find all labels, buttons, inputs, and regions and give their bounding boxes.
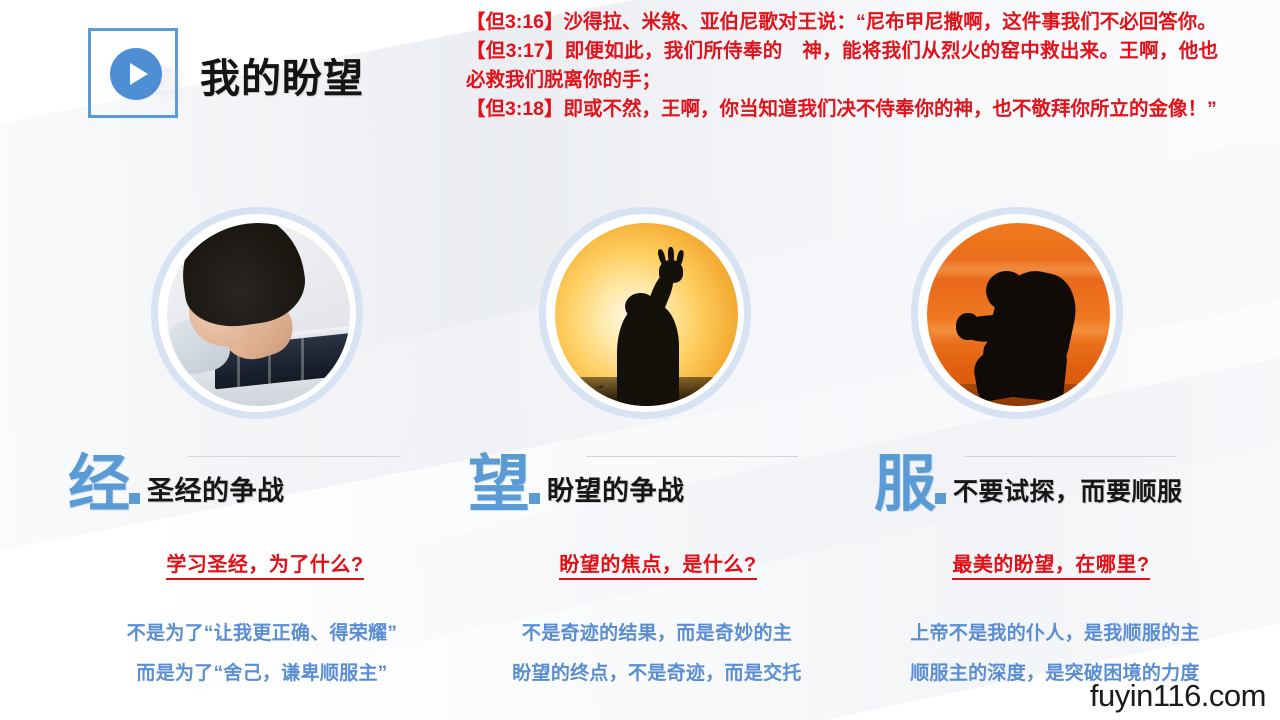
scripture-verse-16: 【但3:16】沙得拉、米煞、亚伯尼歌对王说：“尼布甲尼撒啊，这件事我们不必回答你… [466, 8, 1218, 37]
presentation-slide: 我的盼望 【但3:16】沙得拉、米煞、亚伯尼歌对王说：“尼布甲尼撒啊，这件事我们… [0, 0, 1280, 720]
play-triangle-icon [130, 63, 148, 85]
column-subheading: 盼望的争战 [547, 469, 685, 515]
play-button-icon [110, 48, 162, 100]
column-question: 最美的盼望，在哪里? [856, 548, 1246, 577]
body-line: 上帝不是我的仆人，是我顺服的主 [856, 614, 1254, 654]
scripture-verse-18: 【但3:18】即或不然，王啊，你当知道我们决不侍奉你的神，也不敬拜你所立的金像！… [466, 95, 1218, 124]
body-line: 盼望的终点，不是奇迹，而是交托 [466, 654, 848, 694]
site-watermark: fuyin116.com [1090, 678, 1266, 714]
column-heading: 经 圣经的争战 [68, 456, 285, 515]
child-praying-over-bible-photo [151, 207, 363, 419]
column-big-char: 服 [874, 456, 934, 515]
orange-kneeling-silhouette-photo [911, 207, 1123, 419]
column-question: 盼望的焦点，是什么? [468, 548, 848, 577]
column-big-char: 经 [68, 456, 128, 515]
column-subheading: 圣经的争战 [147, 469, 285, 515]
play-button-logo [88, 28, 184, 124]
column-question: 学习圣经，为了什么? [80, 548, 450, 577]
heading-dot-icon [935, 493, 946, 504]
column-subheading: 不要试探，而要顺服 [953, 472, 1183, 515]
page-title: 我的盼望 [200, 46, 364, 104]
body-line: 不是奇迹的结果，而是奇妙的主 [466, 614, 848, 654]
column-body-text: 不是奇迹的结果，而是奇妙的主 盼望的终点，不是奇迹，而是交托 [466, 614, 848, 694]
column-heading: 望 盼望的争战 [468, 456, 685, 515]
scripture-verse-17: 【但3:17】即便如此，我们所侍奉的 神，能将我们从烈火的窑中救出来。王啊，他也… [466, 37, 1218, 95]
body-line: 不是为了“让我更正确、得荣耀” [76, 614, 448, 654]
scripture-block: 【但3:16】沙得拉、米煞、亚伯尼歌对王说：“尼布甲尼撒啊，这件事我们不必回答你… [466, 8, 1218, 124]
heading-dot-icon [529, 493, 540, 504]
body-line: 而是为了“舍己，谦卑顺服主” [76, 654, 448, 694]
heading-dot-icon [129, 493, 140, 504]
column-heading: 服 不要试探，而要顺服 [874, 456, 1183, 515]
column-body-text: 不是为了“让我更正确、得荣耀” 而是为了“舍己，谦卑顺服主” [76, 614, 448, 694]
column-big-char: 望 [468, 456, 528, 515]
sunset-silhouette-raised-hand-photo [539, 207, 751, 419]
